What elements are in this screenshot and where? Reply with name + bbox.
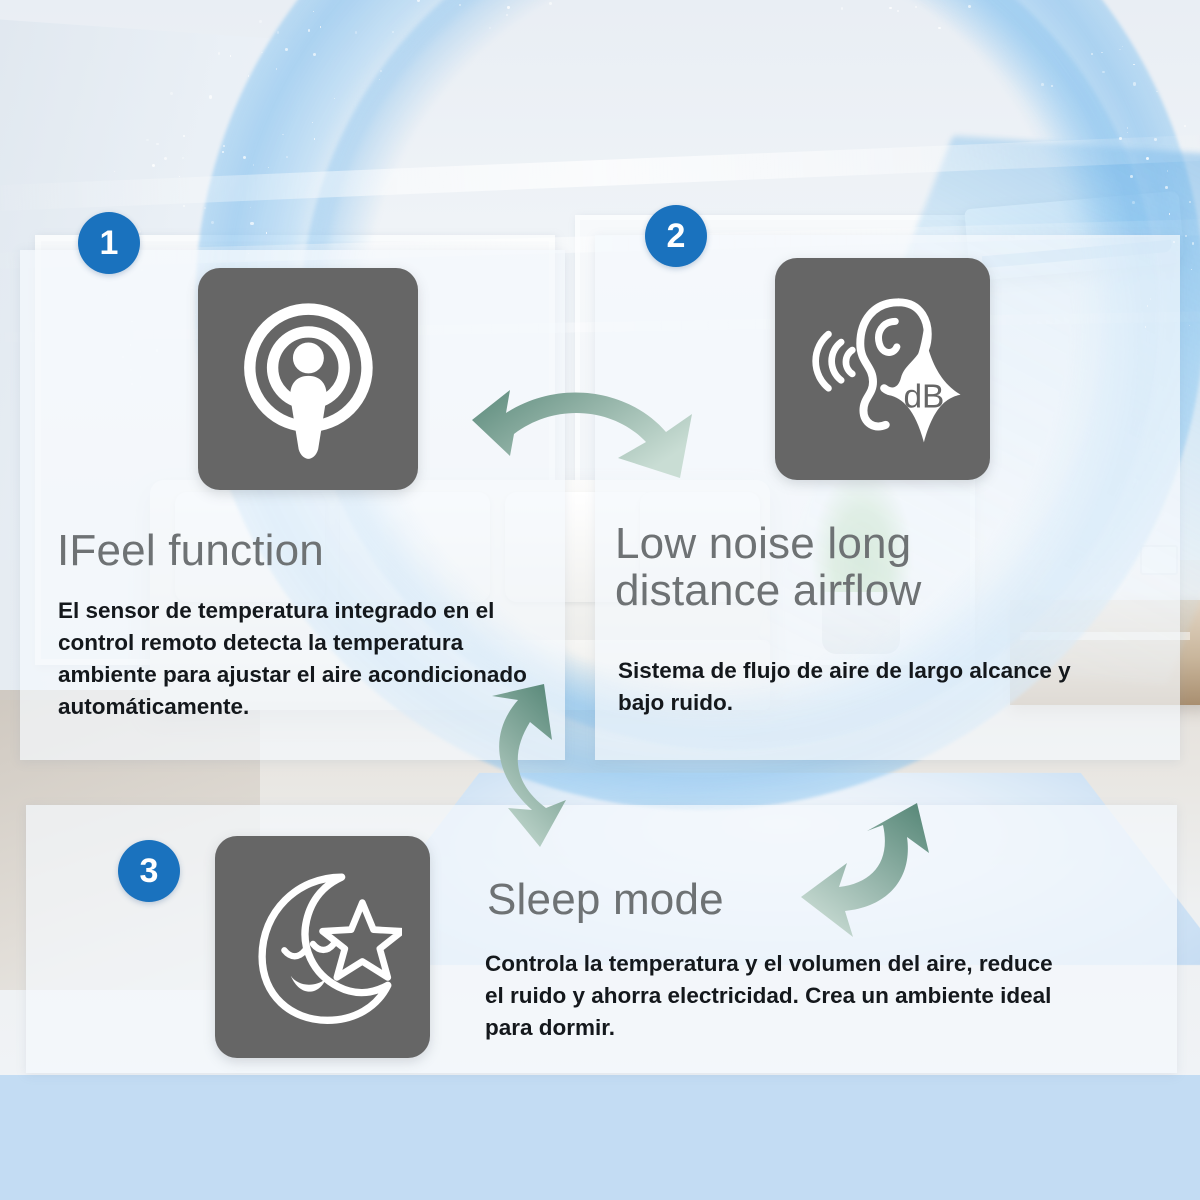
step-badge-3: 3 bbox=[118, 840, 180, 902]
airflow-sparkle bbox=[1169, 213, 1170, 214]
airflow-sparkle bbox=[1184, 125, 1186, 127]
airflow-sparkle bbox=[392, 31, 394, 33]
step-badge-number: 2 bbox=[667, 219, 686, 253]
sleeping-moon-star-icon bbox=[215, 836, 430, 1058]
airflow-sparkle bbox=[889, 7, 892, 10]
airflow-sparkle bbox=[417, 0, 420, 2]
airflow-sparkle bbox=[1119, 137, 1122, 140]
airflow-sparkle bbox=[286, 156, 288, 158]
feature-title-2: Low noise long distance airflow bbox=[615, 521, 1085, 614]
airflow-sparkle bbox=[146, 139, 149, 142]
airflow-sparkle bbox=[507, 6, 509, 8]
airflow-sparkle bbox=[1192, 242, 1194, 244]
airflow-sparkle bbox=[380, 70, 382, 72]
airflow-sparkle bbox=[277, 31, 279, 33]
airflow-sparkle bbox=[1189, 325, 1190, 326]
airflow-sparkle bbox=[250, 222, 253, 225]
airflow-sparkle bbox=[1165, 186, 1168, 189]
airflow-sparkle bbox=[506, 14, 508, 16]
airflow-sparkle bbox=[1130, 175, 1133, 178]
airflow-sparkle bbox=[1119, 49, 1120, 50]
infographic-stage: 1 IFeel function El sensor de temperatur… bbox=[0, 0, 1200, 1200]
airflow-sparkle bbox=[1133, 82, 1136, 85]
airflow-sparkle bbox=[179, 176, 180, 177]
airflow-sparkle bbox=[1102, 71, 1105, 74]
airflow-sparkle bbox=[1041, 83, 1044, 86]
airflow-sparkle bbox=[1091, 53, 1093, 55]
airflow-sparkle bbox=[1191, 269, 1192, 270]
airflow-sparkle bbox=[1101, 52, 1102, 53]
airflow-sparkle bbox=[355, 31, 357, 33]
airflow-sparkle bbox=[248, 75, 249, 76]
airflow-sparkle bbox=[1122, 46, 1123, 47]
airflow-sparkle bbox=[218, 52, 220, 54]
airflow-sparkle bbox=[261, 52, 262, 53]
airflow-sparkle bbox=[259, 20, 262, 23]
airflow-sparkle bbox=[379, 79, 380, 80]
step-badge-number: 1 bbox=[100, 226, 119, 260]
feature-title-3: Sleep mode bbox=[487, 877, 907, 924]
airflow-sparkle bbox=[489, 27, 491, 29]
feature-description-3: Controla la temperatura y el volumen del… bbox=[485, 948, 1065, 1044]
step-badge-1: 1 bbox=[78, 212, 140, 274]
airflow-sparkle bbox=[223, 145, 225, 147]
feature-title-1: IFeel function bbox=[57, 528, 527, 575]
bottom-color-band bbox=[0, 1075, 1200, 1200]
feature-description-2: Sistema de flujo de aire de largo alcanc… bbox=[618, 655, 1118, 719]
decibel-label: dB bbox=[903, 378, 944, 415]
airflow-sparkle bbox=[1154, 138, 1157, 141]
airflow-sparkle bbox=[968, 5, 971, 8]
airflow-sparkle bbox=[183, 205, 185, 207]
airflow-sparkle bbox=[204, 207, 206, 209]
airflow-sparkle bbox=[222, 151, 224, 153]
step-badge-number: 3 bbox=[140, 854, 159, 888]
airflow-sparkle bbox=[1132, 201, 1135, 204]
step-badge-2: 2 bbox=[645, 205, 707, 267]
feature-description-1: El sensor de temperatura integrado en el… bbox=[58, 595, 528, 723]
airflow-sparkle bbox=[915, 6, 916, 7]
airflow-sparkle bbox=[1146, 157, 1149, 160]
ifeel-sensor-person-icon bbox=[198, 268, 418, 490]
arrow-one-to-two bbox=[470, 372, 700, 497]
ear-low-decibel-icon: dB bbox=[775, 258, 990, 480]
airflow-sparkle bbox=[1051, 85, 1053, 87]
airflow-sparkle bbox=[841, 7, 843, 9]
airflow-sparkle bbox=[209, 95, 212, 98]
airflow-sparkle bbox=[152, 164, 155, 167]
